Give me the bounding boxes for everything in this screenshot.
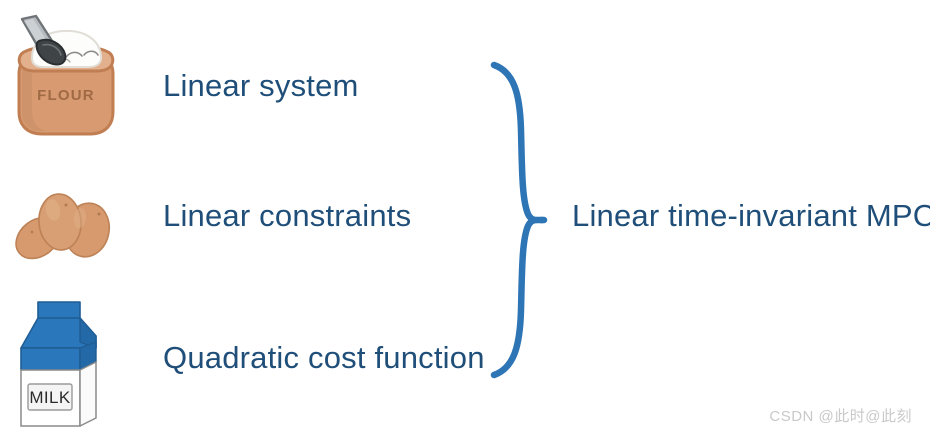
- ingredient-label-quadratic-cost-function: Quadratic cost function: [163, 342, 485, 373]
- result-label: Linear time-invariant MPC: [572, 200, 930, 231]
- milk-carton-icon: MILK: [8, 296, 118, 432]
- milk-carton-text: MILK: [29, 388, 71, 407]
- ingredient-label-linear-system: Linear system: [163, 70, 359, 101]
- flour-bag-text: FLOUR: [37, 87, 95, 104]
- slide-canvas: FLOUR: [0, 0, 930, 434]
- csdn-watermark: CSDN @此时@此刻: [769, 405, 912, 426]
- eggs-icon: [8, 180, 120, 270]
- curly-brace-icon: [480, 50, 572, 390]
- flour-bag-icon: FLOUR: [6, 14, 126, 136]
- ingredient-label-linear-constraints: Linear constraints: [163, 200, 411, 231]
